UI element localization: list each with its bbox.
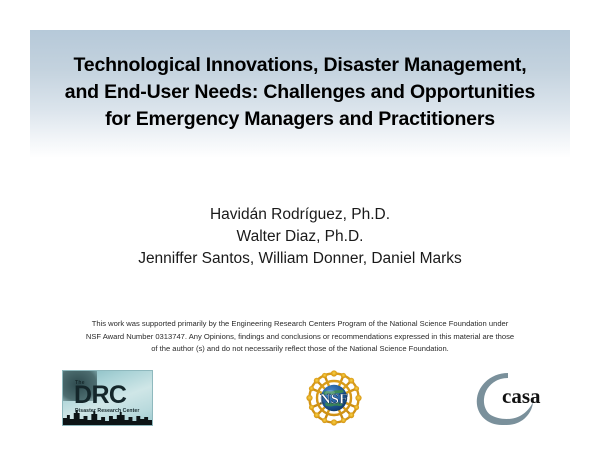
author-line-1: Havidán Rodríguez, Ph.D. bbox=[30, 204, 570, 226]
page-title: Technological Innovations, Disaster Mana… bbox=[30, 52, 570, 133]
casa-wordmark: casa bbox=[502, 384, 541, 408]
nsf-logo: NSF bbox=[304, 370, 364, 427]
author-line-3: Jenniffer Santos, William Donner, Daniel… bbox=[30, 248, 570, 270]
author-list: Havidán Rodríguez, Ph.D. Walter Diaz, Ph… bbox=[30, 204, 570, 270]
logo-row: The DRC Disaster Research Center bbox=[0, 368, 600, 430]
author-line-2: Walter Diaz, Ph.D. bbox=[30, 226, 570, 248]
acknowledgment-line-3: of the author (s) and do not necessarily… bbox=[36, 343, 564, 356]
casa-logo: casa bbox=[462, 372, 558, 426]
acknowledgment-text: This work was supported primarily by the… bbox=[36, 318, 564, 356]
acknowledgment-line-1: This work was supported primarily by the… bbox=[36, 318, 564, 331]
title-line-3: for Emergency Managers and Practitioners bbox=[30, 106, 570, 133]
acknowledgment-line-2: NSF Award Number 0313747. Any Opinions, … bbox=[36, 331, 564, 344]
title-line-1: Technological Innovations, Disaster Mana… bbox=[30, 52, 570, 79]
title-line-2: and End-User Needs: Challenges and Oppor… bbox=[30, 79, 570, 106]
drc-acronym: DRC bbox=[74, 383, 126, 408]
drc-logo: The DRC Disaster Research Center bbox=[62, 370, 153, 426]
drc-full-name: Disaster Research Center bbox=[75, 408, 139, 414]
nsf-acronym: NSF bbox=[320, 392, 348, 408]
